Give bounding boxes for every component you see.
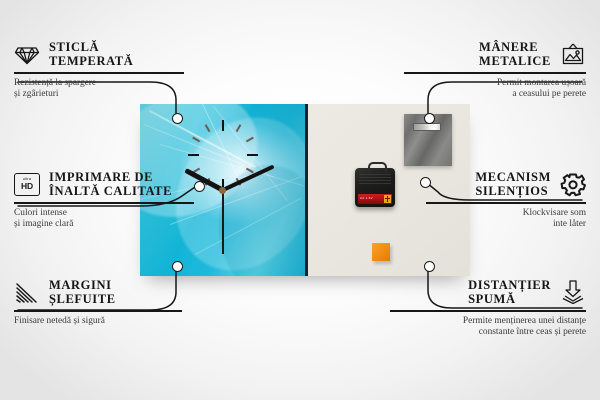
gear-icon (560, 172, 586, 196)
feature-title-line2: ȘLEFUITE (49, 292, 116, 306)
feature-divider (14, 310, 182, 312)
connector-dot-glass (172, 113, 183, 124)
feature-title-line1: DISTANȚIER (468, 278, 551, 292)
feature-foam-spacer: DISTANȚIER SPUMĂ Permite menținerea unei… (390, 278, 586, 338)
foam-spacer (372, 243, 390, 261)
feature-title-line1: MECANISM (475, 170, 551, 184)
feature-metal-hooks: MÂNERE METALICE Permit montarea ușoară a… (404, 40, 586, 100)
feature-sub-line2: constante între ceas și perete (390, 327, 586, 338)
hanger-slot (413, 123, 441, 131)
feature-title-line2: METALICE (479, 54, 551, 68)
feature-title-line2: TEMPERATĂ (49, 54, 133, 68)
feature-title-line1: MÂNERE (479, 40, 551, 54)
diamond-icon (14, 42, 40, 66)
feature-sub-line2: a ceasului pe perete (404, 89, 586, 100)
feature-divider (404, 72, 586, 74)
feature-tempered-glass: STICLĂ TEMPERATĂ Rezistență la spargere … (14, 40, 184, 100)
feature-title-line2: SPUMĂ (468, 292, 551, 306)
connector-dot-foam (424, 261, 435, 272)
feature-sub-line1: Rezistență la spargere (14, 78, 184, 89)
down-arrow-stack-icon (560, 280, 586, 304)
feature-sub-line1: Permit montarea ușoară (404, 78, 586, 89)
battery: AA 1.5V (358, 194, 392, 204)
feature-title-line2: ÎNALTĂ CALITATE (49, 184, 172, 198)
beveled-edge-icon (14, 280, 40, 304)
feature-title-line1: STICLĂ (49, 40, 133, 54)
feature-sub-line2: și imagine clară (14, 219, 194, 230)
feature-sub-line1: Finisare netedă și sigură (14, 316, 182, 327)
mechanism-hanging-loop (368, 162, 387, 173)
ultra-hd-icon-big-text: HD (21, 182, 33, 191)
feature-title-line1: IMPRIMARE DE (49, 170, 172, 184)
connector-dot-edges (172, 261, 183, 272)
feature-sub-line1: Culori intense (14, 208, 194, 219)
feature-title-line2: SILENȚIOS (475, 184, 551, 198)
feature-sub-line1: Permite menținerea unei distanțe (390, 316, 586, 327)
feature-sub-line1: Klockvisare som (426, 208, 586, 219)
connector-dot-hooks (424, 113, 435, 124)
mechanism-detail-lines (359, 174, 391, 186)
clock-second-hand (222, 190, 224, 254)
ultra-hd-icon: ultra HD (14, 172, 40, 196)
battery-plus-terminal (384, 195, 391, 203)
battery-label: AA 1.5V (360, 196, 373, 200)
wall-mount-picture-icon (560, 42, 586, 66)
feature-sub-line2: inte låter (426, 219, 586, 230)
feature-divider (390, 310, 586, 312)
feature-polished-edges: MARGINI ȘLEFUITE Finisare netedă și sigu… (14, 278, 182, 327)
feature-divider (14, 202, 194, 204)
feature-sub-line2: și zgârieturi (14, 89, 184, 100)
infographic-canvas: AA 1.5V (0, 0, 600, 400)
clock-center-pin (219, 187, 226, 194)
feature-high-quality-print: ultra HD IMPRIMARE DE ÎNALTĂ CALITATE Cu… (14, 170, 194, 230)
feature-divider (14, 72, 184, 74)
feature-title-line1: MARGINI (49, 278, 116, 292)
feature-divider (426, 202, 586, 204)
feature-silent-mechanism: MECANISM SILENȚIOS Klockvisare som inte … (426, 170, 586, 230)
connector-dot-print (194, 181, 205, 192)
clock-mechanism: AA 1.5V (355, 168, 395, 207)
